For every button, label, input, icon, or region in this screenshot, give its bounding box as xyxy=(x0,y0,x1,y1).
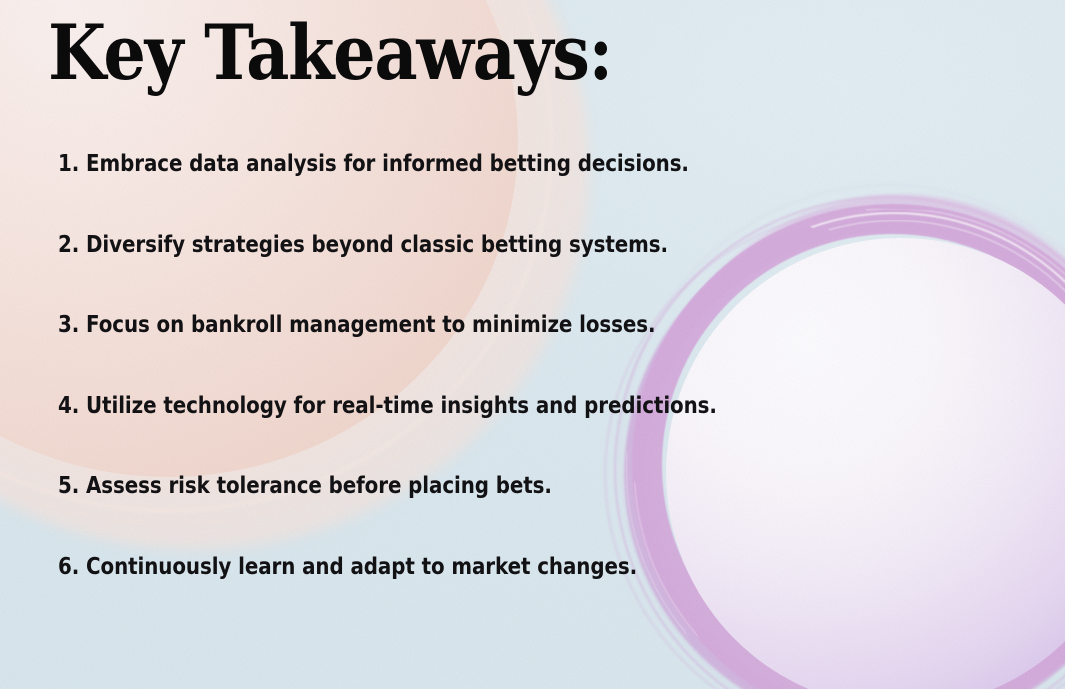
list-item: 6. Continuously learn and adapt to marke… xyxy=(58,555,734,579)
takeaways-list: 1. Embrace data analysis for informed be… xyxy=(58,152,858,578)
list-item: 2. Diversify strategies beyond classic b… xyxy=(58,233,734,257)
list-item: 5. Assess risk tolerance before placing … xyxy=(58,474,734,498)
list-item: 1. Embrace data analysis for informed be… xyxy=(58,152,734,176)
poster-canvas: Key Takeaways: 1. Embrace data analysis … xyxy=(0,0,1065,689)
poster-content: Key Takeaways: 1. Embrace data analysis … xyxy=(0,0,1065,689)
list-item: 4. Utilize technology for real-time insi… xyxy=(58,394,734,418)
list-item: 3. Focus on bankroll management to minim… xyxy=(58,313,734,337)
page-title: Key Takeaways: xyxy=(48,14,612,92)
